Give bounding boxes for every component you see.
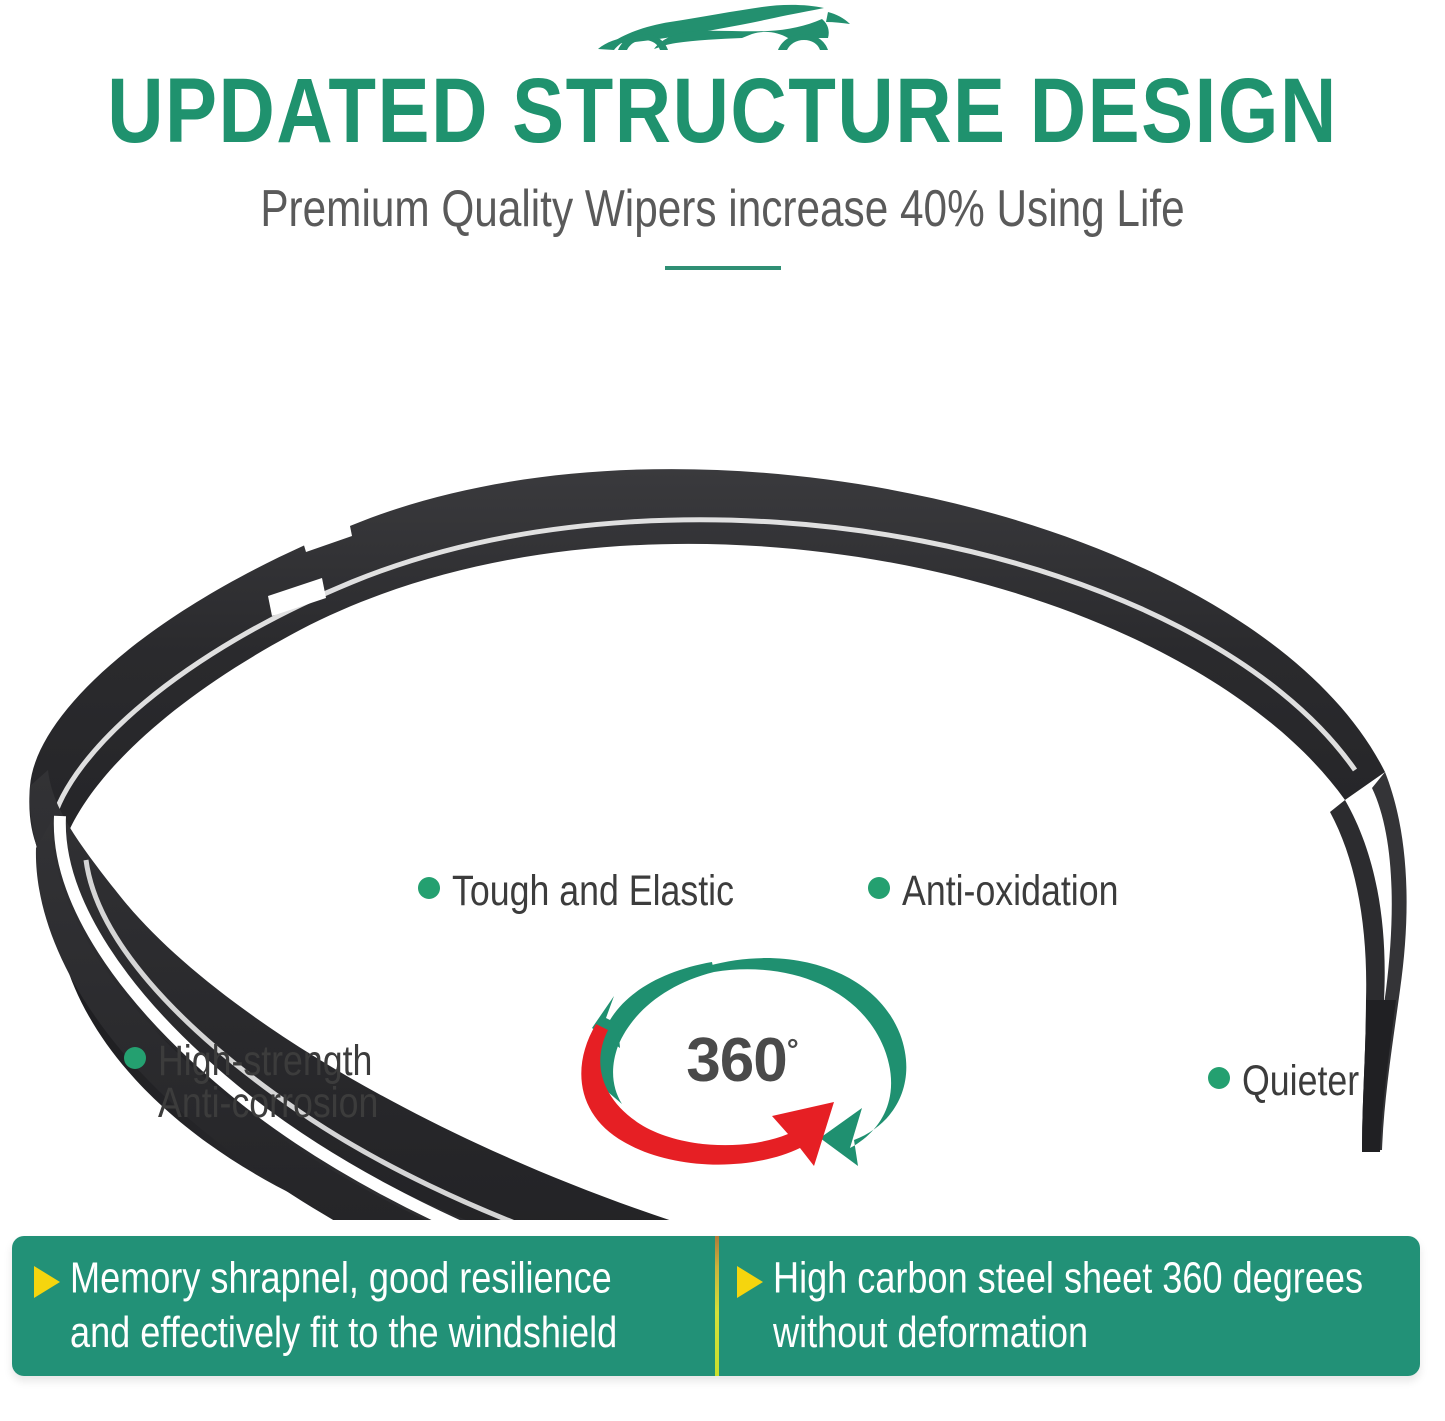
product-image-section: Tough and Elastic Anti-oxidation High-st… bbox=[0, 300, 1445, 1220]
feature-label-line1: High-strength bbox=[158, 1038, 378, 1085]
badge-360-label: 360° bbox=[562, 1030, 922, 1092]
banner-line1: Memory shrapnel, good resilience bbox=[70, 1255, 612, 1303]
feature-tough-and-elastic: Tough and Elastic bbox=[418, 868, 752, 910]
feature-anti-oxidation: Anti-oxidation bbox=[868, 868, 1132, 910]
banner-line2: and effectively fit to the windshield bbox=[70, 1306, 617, 1361]
bullet-dot-icon bbox=[418, 877, 440, 899]
banner-line2: without deformation bbox=[773, 1306, 1363, 1361]
banner-text: Memory shrapnel, good resilience and eff… bbox=[70, 1251, 617, 1360]
feature-label: Quieter bbox=[1242, 1058, 1359, 1105]
badge-360-degrees: 360° bbox=[562, 952, 922, 1174]
feature-label-line2: Anti-corrosion bbox=[158, 1080, 378, 1127]
triangle-right-icon bbox=[34, 1266, 60, 1298]
banner-memory-shrapnel: Memory shrapnel, good resilience and eff… bbox=[12, 1236, 715, 1376]
header-section: UPDATED STRUCTURE DESIGN Premium Quality… bbox=[0, 0, 1445, 300]
banner-high-carbon-steel: High carbon steel sheet 360 degrees with… bbox=[715, 1236, 1420, 1376]
bullet-dot-icon bbox=[124, 1047, 146, 1069]
feature-label: Anti-oxidation bbox=[902, 868, 1118, 915]
feature-label: Tough and Elastic bbox=[452, 868, 734, 915]
page-title: UPDATED STRUCTURE DESIGN bbox=[0, 62, 1445, 159]
page-subtitle: Premium Quality Wipers increase 40% Usin… bbox=[58, 178, 1387, 238]
banner-line1: High carbon steel sheet 360 degrees bbox=[773, 1255, 1363, 1303]
title-divider bbox=[665, 266, 781, 270]
feature-quieter: Quieter bbox=[1208, 1058, 1367, 1100]
bullet-dot-icon bbox=[868, 877, 890, 899]
feature-high-strength-anti-corrosion: High-strength Anti-corrosion bbox=[124, 1038, 392, 1122]
feature-banner-row: Memory shrapnel, good resilience and eff… bbox=[12, 1236, 1420, 1376]
triangle-right-icon bbox=[737, 1266, 763, 1298]
car-silhouette-icon bbox=[592, 2, 852, 54]
bullet-dot-icon bbox=[1208, 1067, 1230, 1089]
banner-text: High carbon steel sheet 360 degrees with… bbox=[773, 1251, 1363, 1360]
